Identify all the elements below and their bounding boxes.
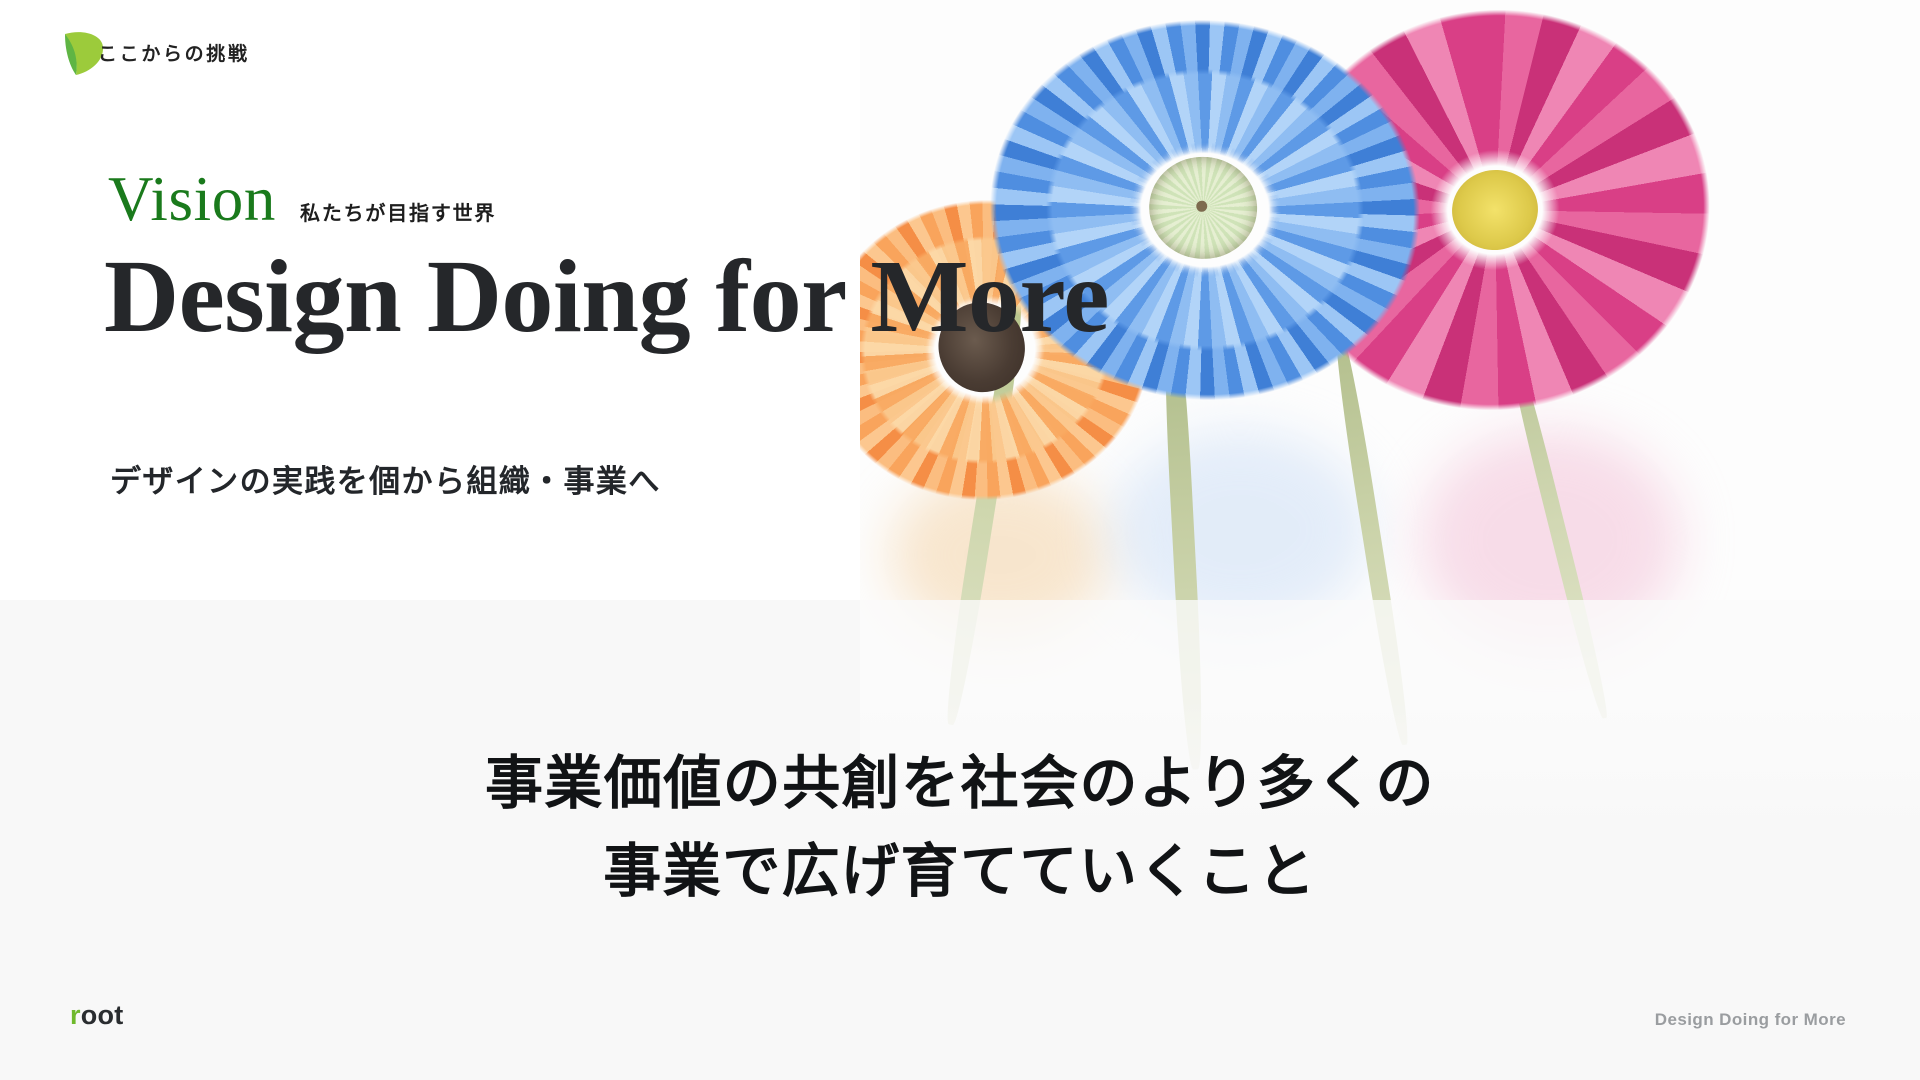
root-logo-initial: r [70, 1000, 81, 1031]
statement-block: 事業価値の共創を社会のより多くの 事業で広げ育てていくこと [0, 740, 1920, 916]
flower-photo [860, 0, 1920, 845]
flower-center-dot [1196, 200, 1208, 212]
vision-subtitle: 私たちが目指す世界 [300, 197, 496, 226]
header-badge: ここからの挑戦 [62, 28, 250, 76]
bokeh-blob-blue [1110, 430, 1370, 630]
bokeh-blob-pink [1420, 430, 1680, 650]
vision-heading-row: Vision 私たちが目指す世界 [108, 168, 496, 231]
vision-tagline: デザインの実践を個から組織・事業へ [110, 456, 661, 501]
root-logo: r oot [70, 1000, 124, 1031]
statement-line-1: 事業価値の共創を社会のより多くの [0, 740, 1920, 828]
badge-label: ここからの挑戦 [98, 39, 250, 66]
statement-line-2: 事業で広げ育てていくこと [0, 828, 1920, 916]
page-title: Design Doing for More [104, 236, 1109, 359]
footer-note: Design Doing for More [1655, 1010, 1846, 1030]
root-logo-rest: oot [81, 1000, 124, 1031]
slide-root: ここからの挑戦 Vision 私たちが目指す世界 Design Doing fo… [0, 0, 1920, 1080]
vision-label: Vision [108, 168, 276, 231]
